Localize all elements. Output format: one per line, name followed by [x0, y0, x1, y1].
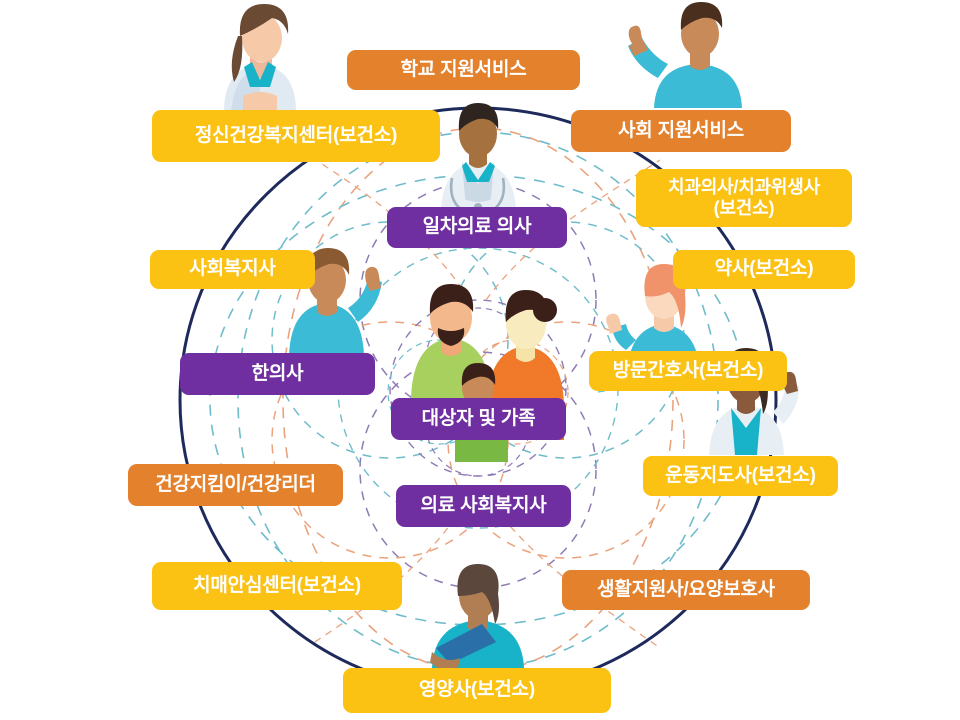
diagram-canvas: 학교 지원서비스정신건강복지센터(보건소)사회 지원서비스치과의사/치과위생사 …: [0, 0, 960, 720]
node-label: 일차의료 의사: [423, 216, 532, 238]
node-social-support[interactable]: 사회 지원서비스: [571, 110, 791, 152]
node-visiting-nurse[interactable]: 방문간호사(보건소): [589, 351, 787, 391]
node-label: 생활지원사/요양보호사: [597, 579, 775, 601]
node-label: 한의사: [252, 363, 304, 385]
node-target-family[interactable]: 대상자 및 가족: [391, 398, 566, 440]
node-label: 운동지도사(보건소): [665, 465, 816, 487]
node-label: 대상자 및 가족: [422, 408, 536, 430]
node-social-worker[interactable]: 사회복지사: [150, 250, 315, 289]
node-label: 사회 지원서비스: [618, 120, 744, 142]
node-medical-social-worker[interactable]: 의료 사회복지사: [396, 485, 571, 527]
node-dentist[interactable]: 치과의사/치과위생사 (보건소): [636, 169, 852, 227]
node-dementia-center[interactable]: 치매안심센터(보건소): [152, 562, 402, 610]
node-primary-care-doctor[interactable]: 일차의료 의사: [387, 207, 567, 248]
node-oriental-doctor[interactable]: 한의사: [180, 353, 375, 395]
node-label: 건강지킴이/건강리더: [155, 474, 316, 496]
node-label: 치과의사/치과위생사 (보건소): [668, 177, 820, 219]
node-label: 의료 사회복지사: [420, 495, 546, 517]
node-label: 방문간호사(보건소): [613, 360, 764, 382]
node-life-support-worker[interactable]: 생활지원사/요양보호사: [562, 570, 810, 610]
node-label: 약사(보건소): [715, 258, 814, 280]
person-nurse-topleft: [224, 4, 296, 112]
node-label: 영양사(보건소): [419, 679, 535, 701]
node-school-support[interactable]: 학교 지원서비스: [347, 50, 580, 90]
node-label: 치매안심센터(보건소): [193, 575, 361, 597]
node-label: 사회복지사: [189, 258, 275, 280]
node-health-keeper[interactable]: 건강지킴이/건강리더: [128, 464, 343, 506]
person-pointing-topright: [628, 2, 742, 108]
node-nutritionist[interactable]: 영양사(보건소): [343, 668, 611, 713]
node-label: 정신건강복지센터(보건소): [195, 125, 397, 147]
person-doctor-top: [441, 103, 516, 211]
node-pharmacist[interactable]: 약사(보건소): [673, 250, 855, 289]
node-mental-health[interactable]: 정신건강복지센터(보건소): [152, 110, 440, 162]
person-worker-bottom: [430, 564, 524, 670]
node-label: 학교 지원서비스: [400, 59, 526, 81]
node-exercise-instructor[interactable]: 운동지도사(보건소): [643, 456, 838, 496]
people-illustrations: [0, 0, 960, 720]
